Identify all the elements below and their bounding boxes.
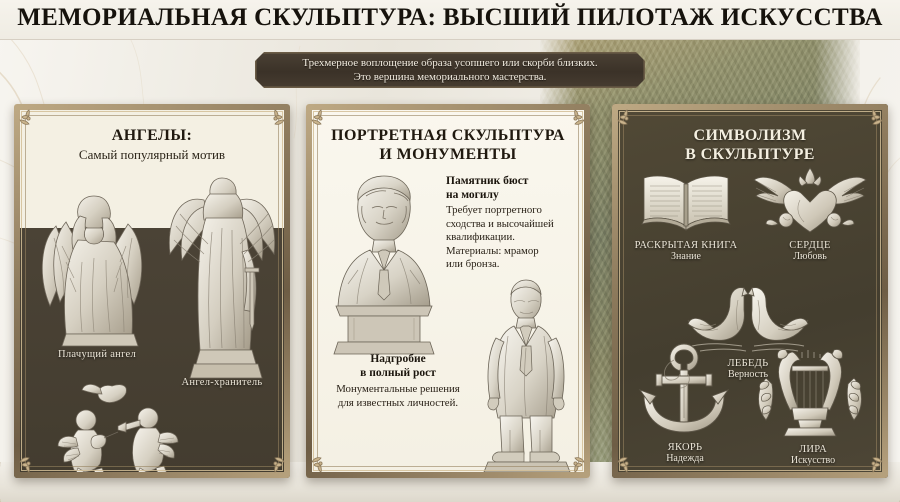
full-height-statue (474, 276, 578, 474)
copy-bust-line-3: квалификации. (446, 231, 576, 245)
cherubs-statue (56, 376, 186, 478)
page-title: МЕМОРИАЛЬНАЯ СКУЛЬПТУРА: ВЫСШИЙ ПИЛОТАЖ … (0, 4, 900, 32)
weeping-angel-statue (36, 166, 156, 356)
subtitle-line-2: Это вершина мемориального мастерства. (354, 70, 547, 84)
copy-full-height-line-1: Монументальные решения (322, 383, 474, 397)
guardian-angel-statue (164, 154, 284, 404)
subtitle-line-1: Трехмерное воплощение образа усопшего ил… (302, 56, 597, 70)
label-guardian-angel: Ангел-хранитель (162, 377, 282, 388)
copy-full-height-line-2: для известных личностей. (322, 397, 474, 411)
winged-heart-icon (752, 162, 868, 238)
poster-stage: МЕМОРИАЛЬНАЯ СКУЛЬПТУРА: ВЫСШИЙ ПИЛОТАЖ … (0, 0, 900, 502)
copy-bust-heading-1: Памятник бюст (446, 174, 576, 188)
symbol-label-anchor: ЯКОРЬ Надежда (630, 442, 740, 464)
card-angels[interactable]: АНГЕЛЫ: Самый популярный мотив (14, 104, 290, 478)
copy-full-height: Надгробие в полный рост Монументальные р… (322, 352, 474, 410)
card-portrait-title-line-2: И МОНУМЕНТЫ (318, 145, 578, 164)
label-weeping-angel: Плачущий ангел (32, 349, 162, 360)
portrait-bust-statue (328, 166, 440, 356)
symbol-label-open-book: РАСКРЫТАЯ КНИГА Знание (626, 240, 746, 262)
copy-bust-line-1: Требует портретного (446, 204, 576, 218)
card-symbols-title-line-1: СИМВОЛИЗМ (624, 116, 876, 145)
copy-full-height-heading-1: Надгробие (322, 352, 474, 366)
lyre-icon (752, 334, 868, 440)
symbol-label-lyre: ЛИРА Искусство (758, 444, 868, 466)
card-portrait-monuments[interactable]: ПОРТРЕТНАЯ СКУЛЬПТУРА И МОНУМЕНТЫ (306, 104, 590, 478)
copy-bust-heading-2: на могилу (446, 188, 576, 202)
card-angels-title: АНГЕЛЫ: (26, 116, 278, 145)
card-portrait-title-line-1: ПОРТРЕТНАЯ СКУЛЬПТУРА (318, 116, 578, 145)
copy-bust-line-2: сходства и высочайшей (446, 218, 576, 232)
card-symbolism[interactable]: СИМВОЛИЗМ В СКУЛЬПТУРЕ (612, 104, 888, 478)
subtitle-banner: Трехмерное воплощение образа усопшего ил… (255, 52, 645, 88)
anchor-icon (636, 340, 732, 438)
copy-bust-line-4: Материалы: мрамор (446, 245, 576, 259)
symbol-label-swan: ЛЕБЕДЬ Верность (690, 358, 806, 380)
copy-bust: Памятник бюст на могилу Требует портретн… (446, 174, 576, 272)
copy-full-height-heading-2: в полный рост (322, 366, 474, 380)
copy-bust-line-5: или бронза. (446, 258, 576, 272)
symbol-label-heart: СЕРДЦЕ Любовь (752, 240, 868, 262)
open-book-icon (640, 170, 732, 232)
